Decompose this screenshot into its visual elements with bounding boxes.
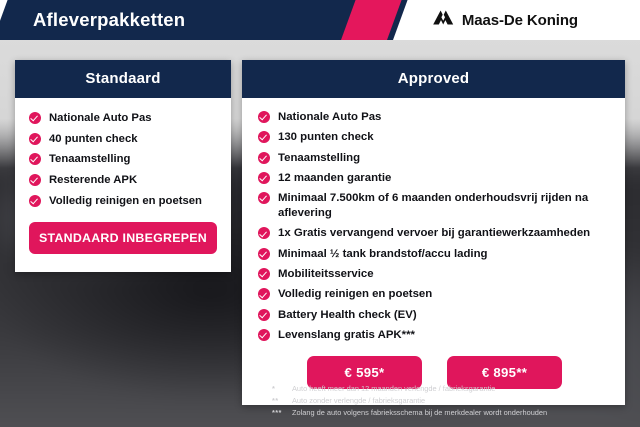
brand-name: Maas-De Koning [462,12,578,29]
list-item: 130 punten check [258,130,611,145]
standaard-inbegrepen-button[interactable]: STANDAARD INBEGREPEN [29,222,217,254]
card-approved-heading: Approved [242,60,625,98]
footnote-text: Auto zonder verlengde / fabrieksgarantie [292,395,632,407]
card-approved: Approved Nationale Auto Pas130 punten ch… [242,60,625,405]
list-item: Resterende APK [29,173,217,188]
check-circle-icon [258,192,270,204]
standaard-feature-label: 40 punten check [49,132,217,147]
list-item: Nationale Auto Pas [258,110,611,125]
check-circle-icon [258,227,270,239]
footnote-text: Auto heeft meer dan 12 maanden verlengde… [292,383,632,395]
approved-feature-label: Volledig reinigen en poetsen [278,287,611,302]
check-circle-icon [258,268,270,280]
brand-lockup: Maas-De Koning [432,0,578,40]
list-item: Minimaal ½ tank brandstof/accu lading [258,247,611,262]
card-standaard: Standaard Nationale Auto Pas40 punten ch… [15,60,231,272]
check-circle-icon [258,152,270,164]
list-item: Minimaal 7.500km of 6 maanden onderhouds… [258,191,611,221]
page-title: Afleverpakketten [33,0,185,40]
card-standaard-heading: Standaard [15,60,231,98]
check-circle-icon [29,153,41,165]
check-circle-icon [258,111,270,123]
list-item: Battery Health check (EV) [258,308,611,323]
footnotes: *Auto heeft meer dan 12 maanden verlengd… [272,383,632,419]
approved-feature-label: Tenaamstelling [278,151,611,166]
list-item: Nationale Auto Pas [29,111,217,126]
approved-feature-label: Battery Health check (EV) [278,308,611,323]
list-item: Volledig reinigen en poetsen [29,194,217,209]
card-approved-body: Nationale Auto Pas130 punten checkTenaam… [242,98,625,405]
footnote-row: ***Zolang de auto volgens fabrieksschema… [272,407,632,419]
approved-feature-label: Levenslang gratis APK*** [278,328,611,343]
check-circle-icon [258,288,270,300]
check-circle-icon [29,195,41,207]
check-circle-icon [29,174,41,186]
page-root: Afleverpakketten Maas-De Koning Standaar… [0,0,640,427]
check-circle-icon [29,112,41,124]
list-item: Volledig reinigen en poetsen [258,287,611,302]
footnote-text: Zolang de auto volgens fabrieksschema bi… [292,407,632,419]
standaard-feature-label: Tenaamstelling [49,152,217,167]
check-circle-icon [258,309,270,321]
list-item: Tenaamstelling [29,152,217,167]
maas-de-koning-m-logo-icon [432,8,454,33]
list-item: Mobiliteitsservice [258,267,611,282]
check-circle-icon [258,329,270,341]
list-item: 1x Gratis vervangend vervoer bij garanti… [258,226,611,241]
page-header: Afleverpakketten Maas-De Koning [0,0,640,40]
list-item: 12 maanden garantie [258,171,611,186]
check-circle-icon [29,133,41,145]
standaard-feature-label: Volledig reinigen en poetsen [49,194,217,209]
footnote-marker: * [272,383,292,395]
approved-feature-label: Minimaal 7.500km of 6 maanden onderhouds… [278,191,611,221]
standaard-feature-label: Resterende APK [49,173,217,188]
footnote-row: **Auto zonder verlengde / fabrieksgarant… [272,395,632,407]
standaard-feature-label: Nationale Auto Pas [49,111,217,126]
approved-feature-label: Nationale Auto Pas [278,110,611,125]
approved-feature-label: Minimaal ½ tank brandstof/accu lading [278,247,611,262]
list-item: Tenaamstelling [258,151,611,166]
footnote-marker: ** [272,395,292,407]
approved-feature-label: 130 punten check [278,130,611,145]
approved-feature-list: Nationale Auto Pas130 punten checkTenaam… [258,110,611,343]
approved-feature-label: Mobiliteitsservice [278,267,611,282]
standaard-feature-list: Nationale Auto Pas40 punten checkTenaams… [29,111,217,208]
approved-feature-label: 12 maanden garantie [278,171,611,186]
list-item: Levenslang gratis APK*** [258,328,611,343]
card-standaard-body: Nationale Auto Pas40 punten checkTenaams… [15,98,231,272]
approved-feature-label: 1x Gratis vervangend vervoer bij garanti… [278,226,611,241]
check-circle-icon [258,172,270,184]
list-item: 40 punten check [29,132,217,147]
check-circle-icon [258,131,270,143]
footnote-row: *Auto heeft meer dan 12 maanden verlengd… [272,383,632,395]
check-circle-icon [258,248,270,260]
footnote-marker: *** [272,407,292,419]
